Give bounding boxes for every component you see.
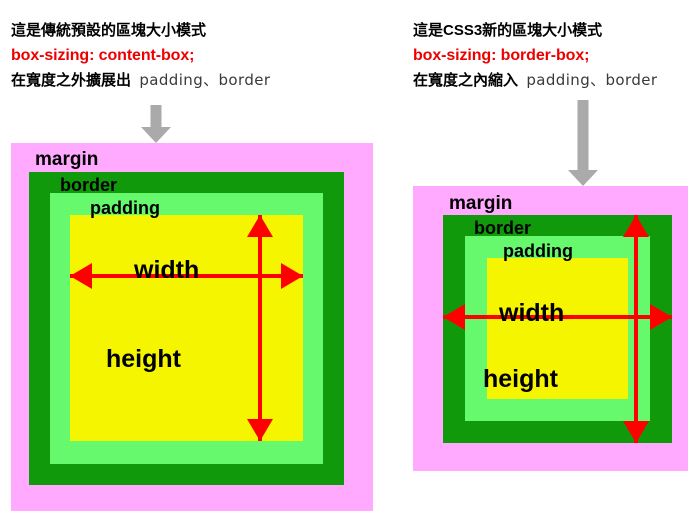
arrow-head [568,170,598,186]
gray-down-arrow-icon-right [568,100,598,186]
caption-border-box: 這是CSS3新的區塊大小模式 box-sizing: border-box; 在… [413,18,657,93]
arrow-head [141,127,171,143]
arrow-head-left [70,263,92,289]
gray-down-arrow-icon-left [141,105,171,143]
arrow-head-top [247,215,273,237]
arrow-head-top [623,215,649,237]
border-label: border [60,176,117,195]
caption-left-line3-terms: padding、border [139,71,270,89]
caption-right-code: box-sizing: border-box; [413,43,657,68]
border-label: border [474,219,531,238]
caption-left-line3: 在寬度之外擴展出 padding、border [11,68,270,93]
caption-right-line3-terms: padding、border [526,71,657,89]
height-dimension-arrow [246,215,274,441]
box-model-diagram-content-box: margin border padding width height [11,143,373,511]
diagram-canvas: 這是傳統預設的區塊大小模式 box-sizing: content-box; 在… [0,0,700,514]
caption-left-line3-prefix: 在寬度之外擴展出 [11,72,131,89]
caption-content-box: 這是傳統預設的區塊大小模式 box-sizing: content-box; 在… [11,18,270,93]
width-label: width [499,299,564,328]
height-label: height [106,345,181,374]
arrow-shaft [578,100,589,172]
caption-right-line1: 這是CSS3新的區塊大小模式 [413,18,657,43]
margin-label: margin [35,150,98,169]
box-model-diagram-border-box: margin border padding width height [413,186,688,471]
arrow-head-bottom [247,419,273,441]
height-label: height [483,365,558,394]
caption-left-code: box-sizing: content-box; [11,43,270,68]
margin-label: margin [449,194,512,213]
padding-label: padding [90,199,160,218]
arrow-head-bottom [623,421,649,443]
arrow-head-right [650,304,672,330]
caption-right-line3: 在寬度之內縮入 padding、border [413,68,657,93]
arrow-shaft [151,105,162,129]
arrow-bar [258,215,262,441]
width-label: width [134,256,199,285]
caption-left-line1: 這是傳統預設的區塊大小模式 [11,18,270,43]
arrow-head-left [443,304,465,330]
caption-right-line3-prefix: 在寬度之內縮入 [413,72,518,89]
arrow-head-right [281,263,303,289]
padding-label: padding [503,242,573,261]
